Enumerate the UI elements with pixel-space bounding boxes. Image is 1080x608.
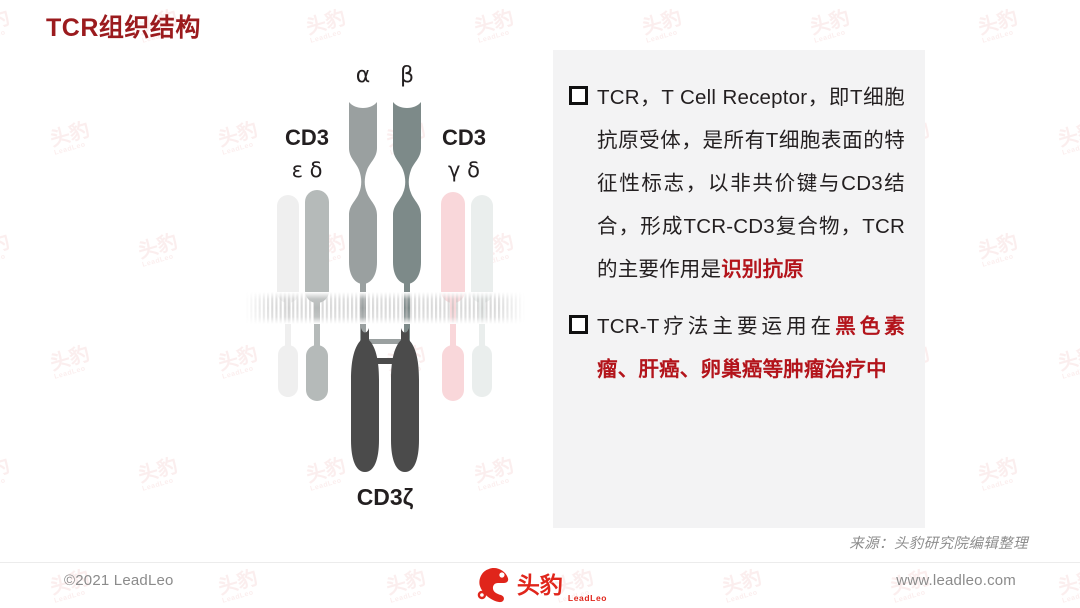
page-title: TCR组织结构 [46,8,201,44]
watermark-mark: 头豹LeadLeo [0,225,14,269]
source-note: 来源：头豹研究院编辑整理 [849,532,1028,553]
label-cd3-zeta: CD3ζ [357,484,414,510]
label-cd3-left: CD3 [285,125,329,150]
tcr-structure-diagram: α β CD3 ε δ CD3 γ δ CD3ζ [225,40,545,540]
watermark-mark: 头豹LeadLeo [974,1,1022,45]
watermark-mark: 头豹LeadLeo [1054,337,1080,381]
logo-latin-text: LeadLeo [568,593,607,604]
watermark-mark: 头豹LeadLeo [302,1,350,45]
label-cd3-right: CD3 [442,125,486,150]
watermark-mark: 头豹LeadLeo [470,1,518,45]
watermark-mark: 头豹LeadLeo [1054,113,1080,157]
watermark-mark: 头豹LeadLeo [382,561,430,605]
watermark-mark: 头豹LeadLeo [134,225,182,269]
logo-chinese-text: 头豹 [517,574,563,597]
watermark-mark: 头豹LeadLeo [974,225,1022,269]
leopard-logo-icon [473,566,513,604]
cell-membrane [245,292,525,324]
watermark-mark: 头豹LeadLeo [718,561,766,605]
watermark-mark: 头豹LeadLeo [806,1,854,45]
bullet-2-text: TCR-T疗法主要运用在黑色素瘤、肝癌、卵巢癌等肿瘤治疗中 [597,305,905,391]
description-panel: TCR，T Cell Receptor，即T细胞抗原受体，是所有T细胞表面的特征… [553,50,925,528]
hollow-square-bullet-icon [569,315,588,334]
watermark-mark: 头豹LeadLeo [46,113,94,157]
cd3-zeta-chain [351,328,419,472]
label-cd3-right-subunits: γ δ [448,158,480,182]
watermark-mark: 头豹LeadLeo [0,1,14,45]
copyright-text: ©2021 LeadLeo [64,572,174,589]
watermark-mark: 头豹LeadLeo [134,449,182,493]
bullet-item-2: TCR-T疗法主要运用在黑色素瘤、肝癌、卵巢癌等肿瘤治疗中 [569,305,905,391]
bullet-item-1: TCR，T Cell Receptor，即T细胞抗原受体，是所有T细胞表面的特征… [569,76,905,291]
leadleo-logo: 头豹 LeadLeo [473,566,607,604]
website-url: www.leadleo.com [896,572,1016,589]
watermark-mark: 头豹LeadLeo [0,449,14,493]
watermark-mark: 头豹LeadLeo [1054,561,1080,605]
watermark-mark: 头豹LeadLeo [638,1,686,45]
watermark-mark: 头豹LeadLeo [214,561,262,605]
label-beta: β [400,63,414,88]
footer-divider [0,562,1080,563]
label-alpha: α [356,63,371,88]
label-cd3-left-subunits: ε δ [292,158,323,182]
hollow-square-bullet-icon [569,86,588,105]
bullet-1-text: TCR，T Cell Receptor，即T细胞抗原受体，是所有T细胞表面的特征… [597,76,905,291]
watermark-mark: 头豹LeadLeo [974,449,1022,493]
watermark-mark: 头豹LeadLeo [46,337,94,381]
